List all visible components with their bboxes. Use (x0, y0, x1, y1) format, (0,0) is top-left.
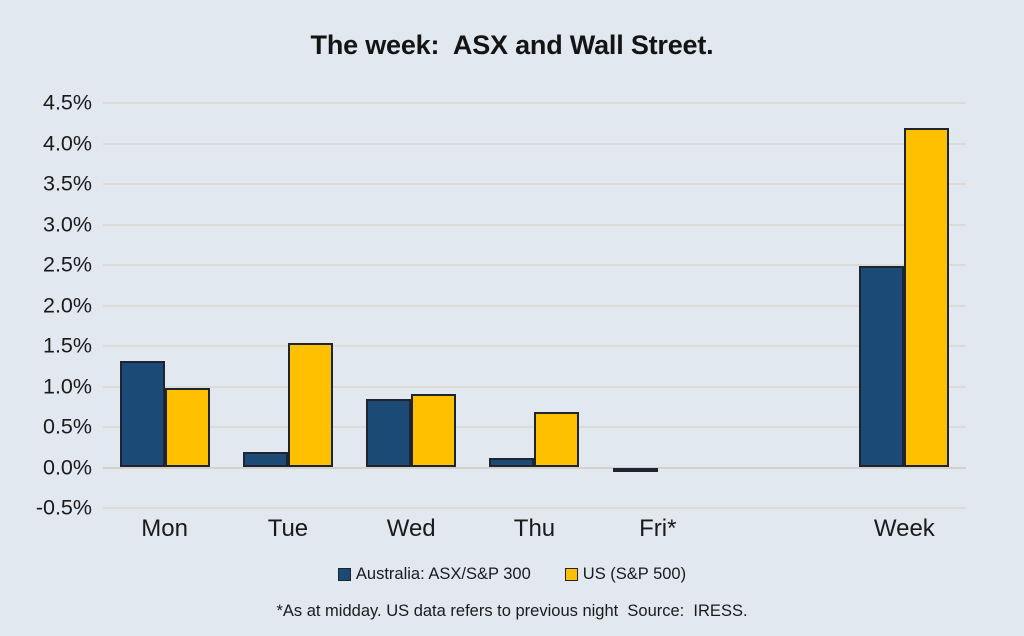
x-axis-labels: MonTueWedThuFri*Week (103, 515, 966, 555)
bar (613, 468, 658, 472)
bar-group (473, 103, 596, 508)
y-axis-tick-label: 1.5% (0, 334, 92, 359)
bar (904, 128, 949, 467)
y-axis-tick-label: 1.0% (0, 374, 92, 399)
y-axis-labels: 4.5%4.0%3.5%3.0%2.5%2.0%1.5%1.0%0.5%0.0%… (0, 103, 92, 508)
bar (366, 399, 411, 468)
bar-group (843, 103, 966, 508)
x-axis-tick-label: Mon (103, 515, 226, 543)
y-axis-tick-label: 2.5% (0, 253, 92, 278)
bar-group (719, 103, 842, 508)
bar (288, 343, 333, 468)
bar (243, 452, 288, 467)
legend-swatch-navy-icon (338, 568, 351, 581)
x-axis-tick-label: Thu (473, 515, 596, 543)
bar-group (596, 103, 719, 508)
plot-area (103, 103, 966, 508)
bar-group (350, 103, 473, 508)
x-axis-tick-label: Wed (350, 515, 473, 543)
y-axis-tick-label: 3.5% (0, 172, 92, 197)
x-axis-tick-label: Tue (226, 515, 349, 543)
y-axis-tick-label: 4.5% (0, 91, 92, 116)
y-axis-tick-label: 4.0% (0, 131, 92, 156)
legend-entry[interactable]: US (S&P 500) (565, 565, 686, 584)
bar (859, 266, 904, 468)
y-axis-tick-label: -0.5% (0, 496, 92, 521)
x-axis-tick-label: Fri* (596, 515, 719, 543)
y-axis-tick-label: 2.0% (0, 293, 92, 318)
bar-group (226, 103, 349, 508)
bar (120, 361, 165, 467)
x-axis-tick-label: Week (843, 515, 966, 543)
chart-footnote: *As at midday. US data refers to previou… (0, 602, 1024, 621)
chart-legend: Australia: ASX/S&P 300US (S&P 500) (0, 565, 1024, 584)
y-axis-tick-label: 0.5% (0, 415, 92, 440)
bar (534, 412, 579, 467)
legend-label: US (S&P 500) (583, 565, 686, 584)
chart-container: The week: ASX and Wall Street. 4.5%4.0%3… (0, 0, 1024, 636)
bar (411, 394, 456, 468)
bar-group-container (103, 103, 966, 508)
chart-title: The week: ASX and Wall Street. (0, 30, 1024, 61)
bar (489, 458, 534, 468)
legend-swatch-gold-icon (565, 568, 578, 581)
y-axis-tick-label: 3.0% (0, 212, 92, 237)
y-axis-tick-label: 0.0% (0, 455, 92, 480)
bar-group (103, 103, 226, 508)
bar (165, 388, 210, 467)
legend-label: Australia: ASX/S&P 300 (356, 565, 531, 584)
legend-entry[interactable]: Australia: ASX/S&P 300 (338, 565, 531, 584)
